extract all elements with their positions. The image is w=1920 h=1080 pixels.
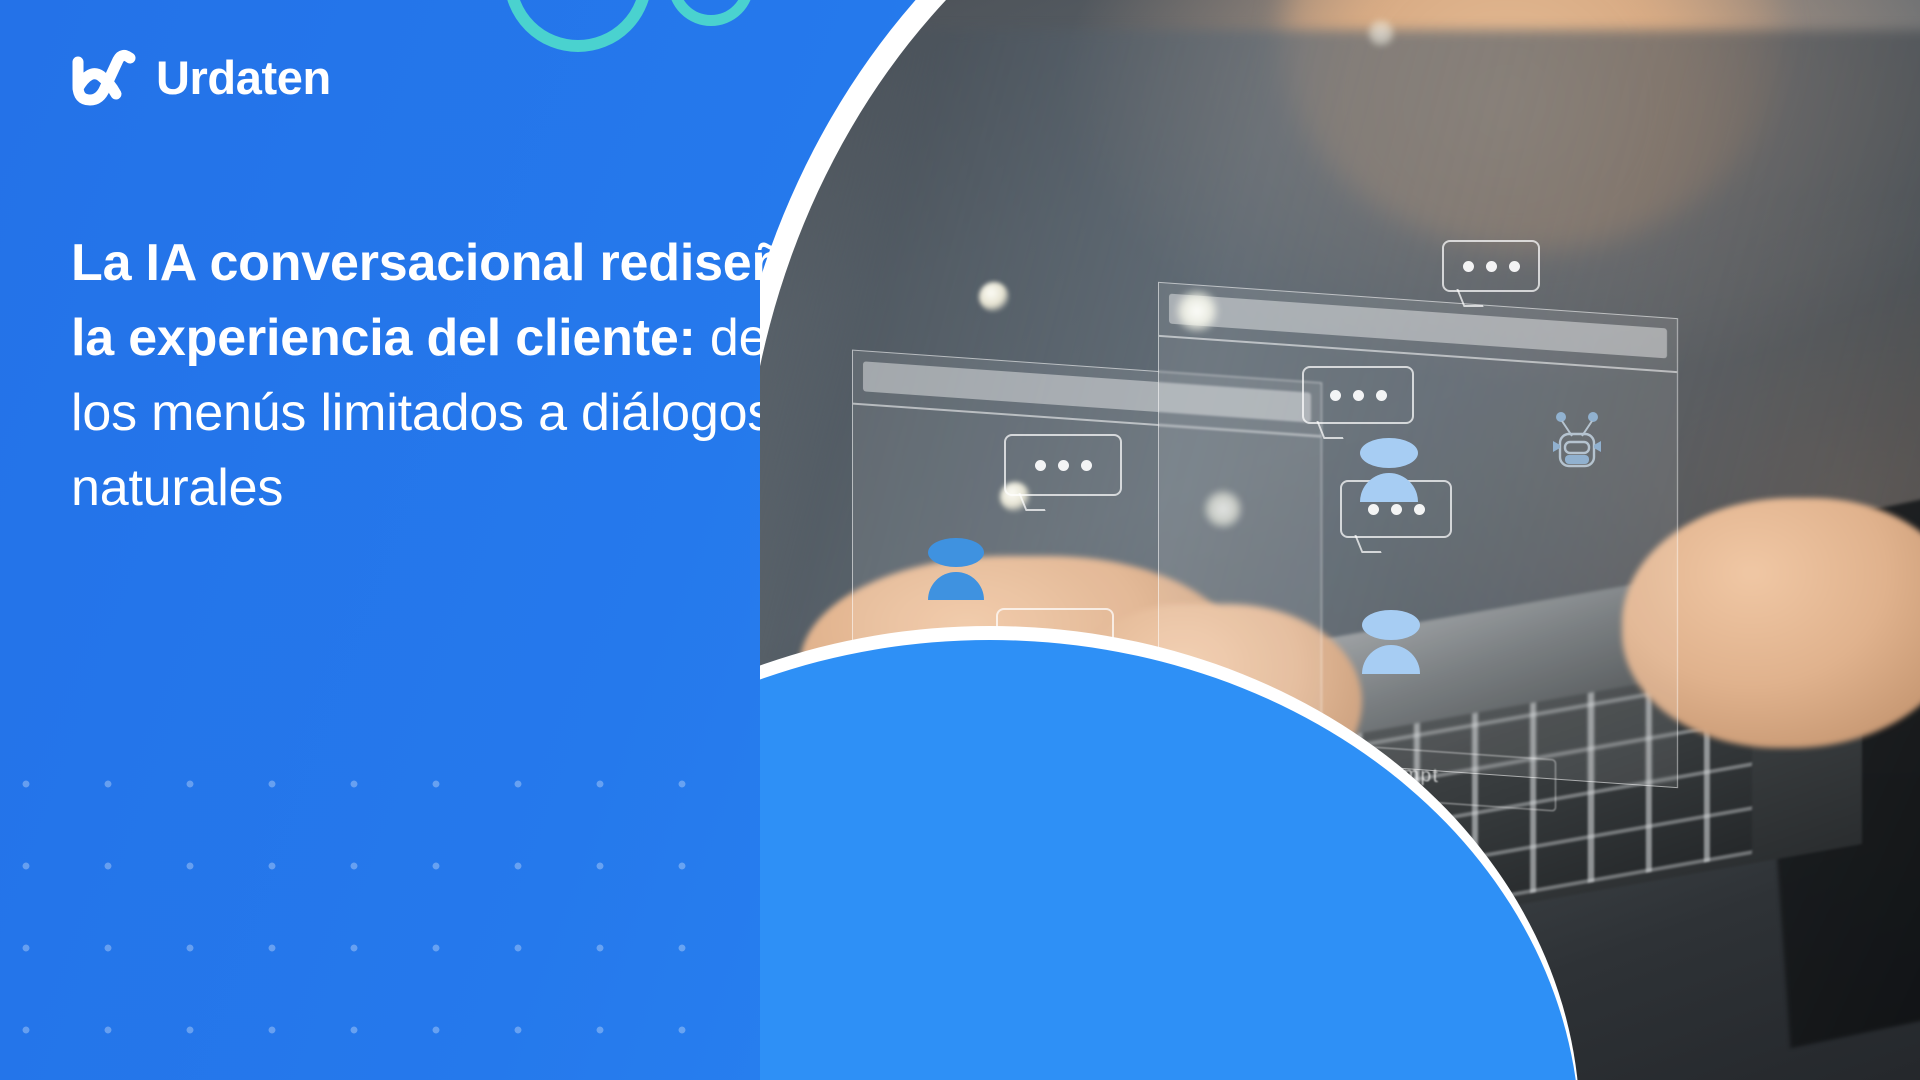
- shirt-button: [979, 282, 1009, 312]
- typing-dot: [1463, 261, 1474, 272]
- typing-dot: [1058, 460, 1069, 471]
- typing-dot: [1368, 504, 1379, 515]
- chat-bubble-icon: [1302, 366, 1414, 424]
- typing-dot: [1035, 460, 1046, 471]
- hero-photo-panel: Command Prompt: [760, 0, 1920, 1080]
- typing-dot: [1081, 460, 1092, 471]
- brand-logo[interactable]: Urdaten: [70, 46, 331, 108]
- user-avatar-icon: [1362, 610, 1420, 676]
- avatar-body: [1360, 473, 1418, 502]
- avatar-head: [928, 538, 984, 567]
- user-avatar-icon: [928, 538, 984, 602]
- chat-bubble-icon: [1442, 240, 1540, 292]
- chat-bubble-icon: [1004, 434, 1122, 496]
- avatar-body: [928, 572, 984, 600]
- typing-dot: [1509, 261, 1520, 272]
- typing-dot: [1376, 390, 1387, 401]
- typing-dot: [1486, 261, 1497, 272]
- urdaten-zigzag-mark-icon: [70, 46, 140, 108]
- typing-dot: [1073, 634, 1084, 645]
- brand-name: Urdaten: [156, 54, 331, 101]
- page-title: La IA conversacional rediseña la experie…: [71, 226, 831, 526]
- avatar-head: [1362, 610, 1420, 640]
- bokeh-light: [1202, 488, 1244, 530]
- avatar-body: [1362, 645, 1420, 674]
- bokeh-light: [1174, 288, 1220, 334]
- dot-grid-pattern: [22, 780, 762, 1080]
- user-avatar-icon: [1360, 438, 1418, 504]
- typing-dot: [1353, 390, 1364, 401]
- typing-dot: [1414, 504, 1425, 515]
- robot-assistant-icon: [1540, 404, 1614, 478]
- bokeh-light: [1366, 18, 1396, 48]
- avatar-head: [1360, 438, 1418, 468]
- hero-banner: Urdaten La IA conversacional rediseña la…: [0, 0, 1920, 1080]
- typing-dot: [1330, 390, 1341, 401]
- typing-dot: [1391, 504, 1402, 515]
